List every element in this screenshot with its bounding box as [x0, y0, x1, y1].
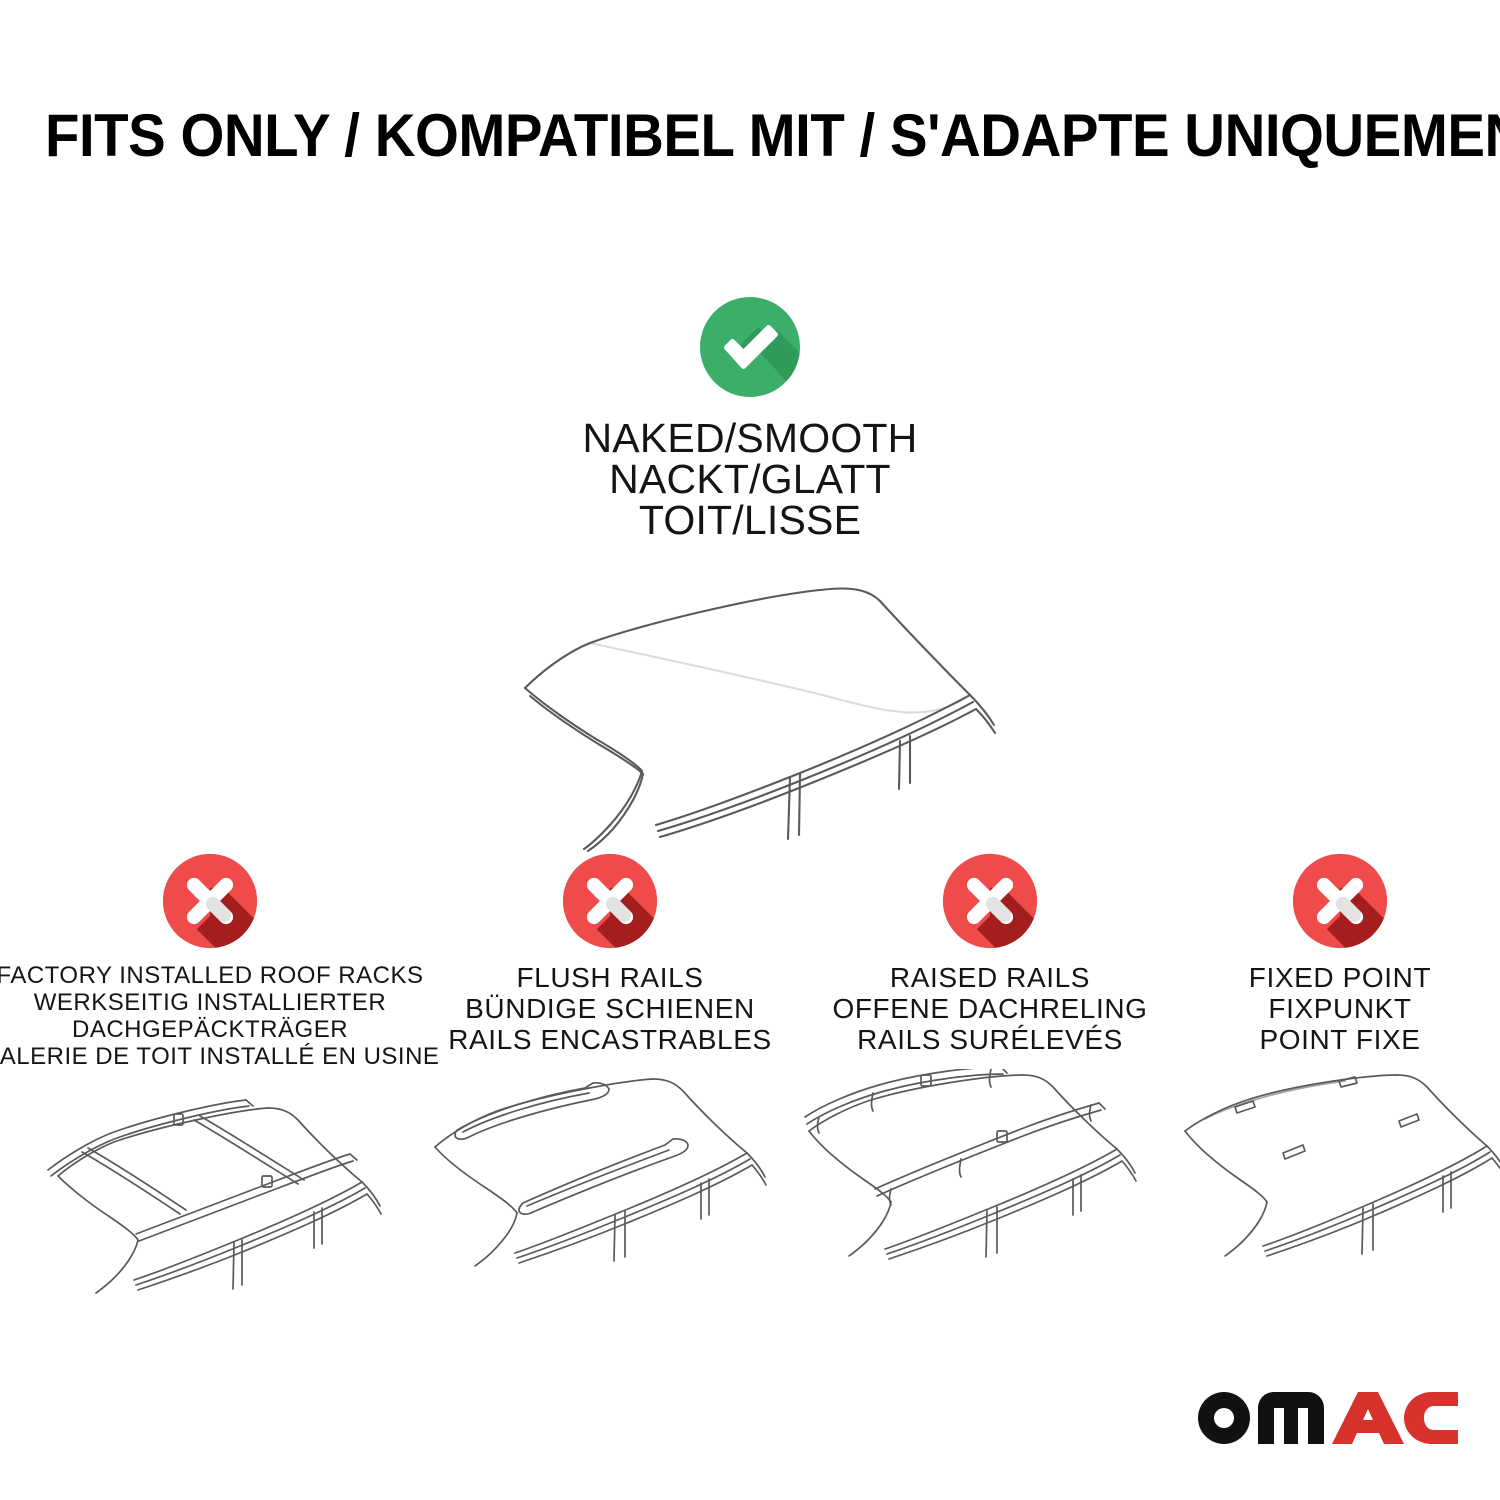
label-line-1: FIXED POINT	[1249, 962, 1431, 993]
car-roof-flush-rails-illustration	[415, 1069, 805, 1289]
label-line-3: RAILS ENCASTRABLES	[448, 1024, 772, 1055]
compatible-label-line-2: NACKT/GLATT	[583, 459, 918, 500]
compatible-label-line-1: NAKED/SMOOTH	[583, 418, 918, 459]
label-line-3: DACHGEPÄCKTRÄGER	[0, 1016, 439, 1043]
car-roof-fixed-point-illustration	[1175, 1069, 1500, 1289]
check-circle-icon	[698, 295, 802, 399]
incompatible-label-fixed-point: FIXED POINT FIXPUNKT POINT FIXE	[1249, 962, 1431, 1055]
label-line-2: FIXPUNKT	[1249, 993, 1431, 1024]
incompatible-label-raised-rails: RAISED RAILS OFFENE DACHRELING RAILS SUR…	[832, 962, 1147, 1055]
incompatible-item-fixed-point: FIXED POINT FIXPUNKT POINT FIXE	[1180, 852, 1500, 1289]
page-title: FITS ONLY / KOMPATIBEL MIT / S'ADAPTE UN…	[45, 104, 1455, 168]
compatible-section: NAKED/SMOOTH NACKT/GLATT TOIT/LISSE	[0, 295, 1500, 853]
omac-logo	[1190, 1384, 1462, 1458]
incompatible-section: FACTORY INSTALLED ROOF RACKS WERKSEITIG …	[0, 852, 1500, 1304]
logo-letter-o	[1198, 1392, 1250, 1444]
incompatible-item-flush-rails: FLUSH RAILS BÜNDIGE SCHIENEN RAILS ENCAS…	[420, 852, 800, 1289]
logo-letter-c	[1404, 1392, 1458, 1444]
label-line-3: RAILS SURÉLEVÉS	[832, 1024, 1147, 1055]
incompatible-item-raised-rails: RAISED RAILS OFFENE DACHRELING RAILS SUR…	[800, 852, 1180, 1289]
logo-letter-m	[1258, 1392, 1324, 1444]
logo-letter-a	[1332, 1392, 1404, 1444]
incompatible-item-factory-racks: FACTORY INSTALLED ROOF RACKS WERKSEITIG …	[0, 852, 420, 1304]
label-line-3: POINT FIXE	[1249, 1024, 1431, 1055]
label-line-2: WERKSEITIG INSTALLIERTER	[0, 989, 439, 1016]
incompatible-label-flush-rails: FLUSH RAILS BÜNDIGE SCHIENEN RAILS ENCAS…	[448, 962, 772, 1055]
label-line-1: FLUSH RAILS	[448, 962, 772, 993]
compatible-label-line-3: TOIT/LISSE	[583, 500, 918, 541]
car-roof-factory-racks-illustration	[10, 1084, 410, 1304]
label-line-4: GALERIE DE TOIT INSTALLÉ EN USINE	[0, 1043, 439, 1070]
x-circle-icon	[561, 852, 659, 950]
car-roof-raised-rails-illustration	[795, 1069, 1185, 1289]
x-circle-icon	[161, 852, 259, 950]
label-line-2: OFFENE DACHRELING	[832, 993, 1147, 1024]
x-circle-icon	[941, 852, 1039, 950]
label-line-1: RAISED RAILS	[832, 962, 1147, 993]
compatible-label: NAKED/SMOOTH NACKT/GLATT TOIT/LISSE	[583, 418, 918, 541]
label-line-2: BÜNDIGE SCHIENEN	[448, 993, 772, 1024]
label-line-1: FACTORY INSTALLED ROOF RACKS	[0, 962, 439, 989]
incompatible-label-factory-racks: FACTORY INSTALLED ROOF RACKS WERKSEITIG …	[0, 962, 439, 1070]
car-roof-naked-smooth-illustration	[470, 553, 1030, 853]
x-circle-icon	[1291, 852, 1389, 950]
